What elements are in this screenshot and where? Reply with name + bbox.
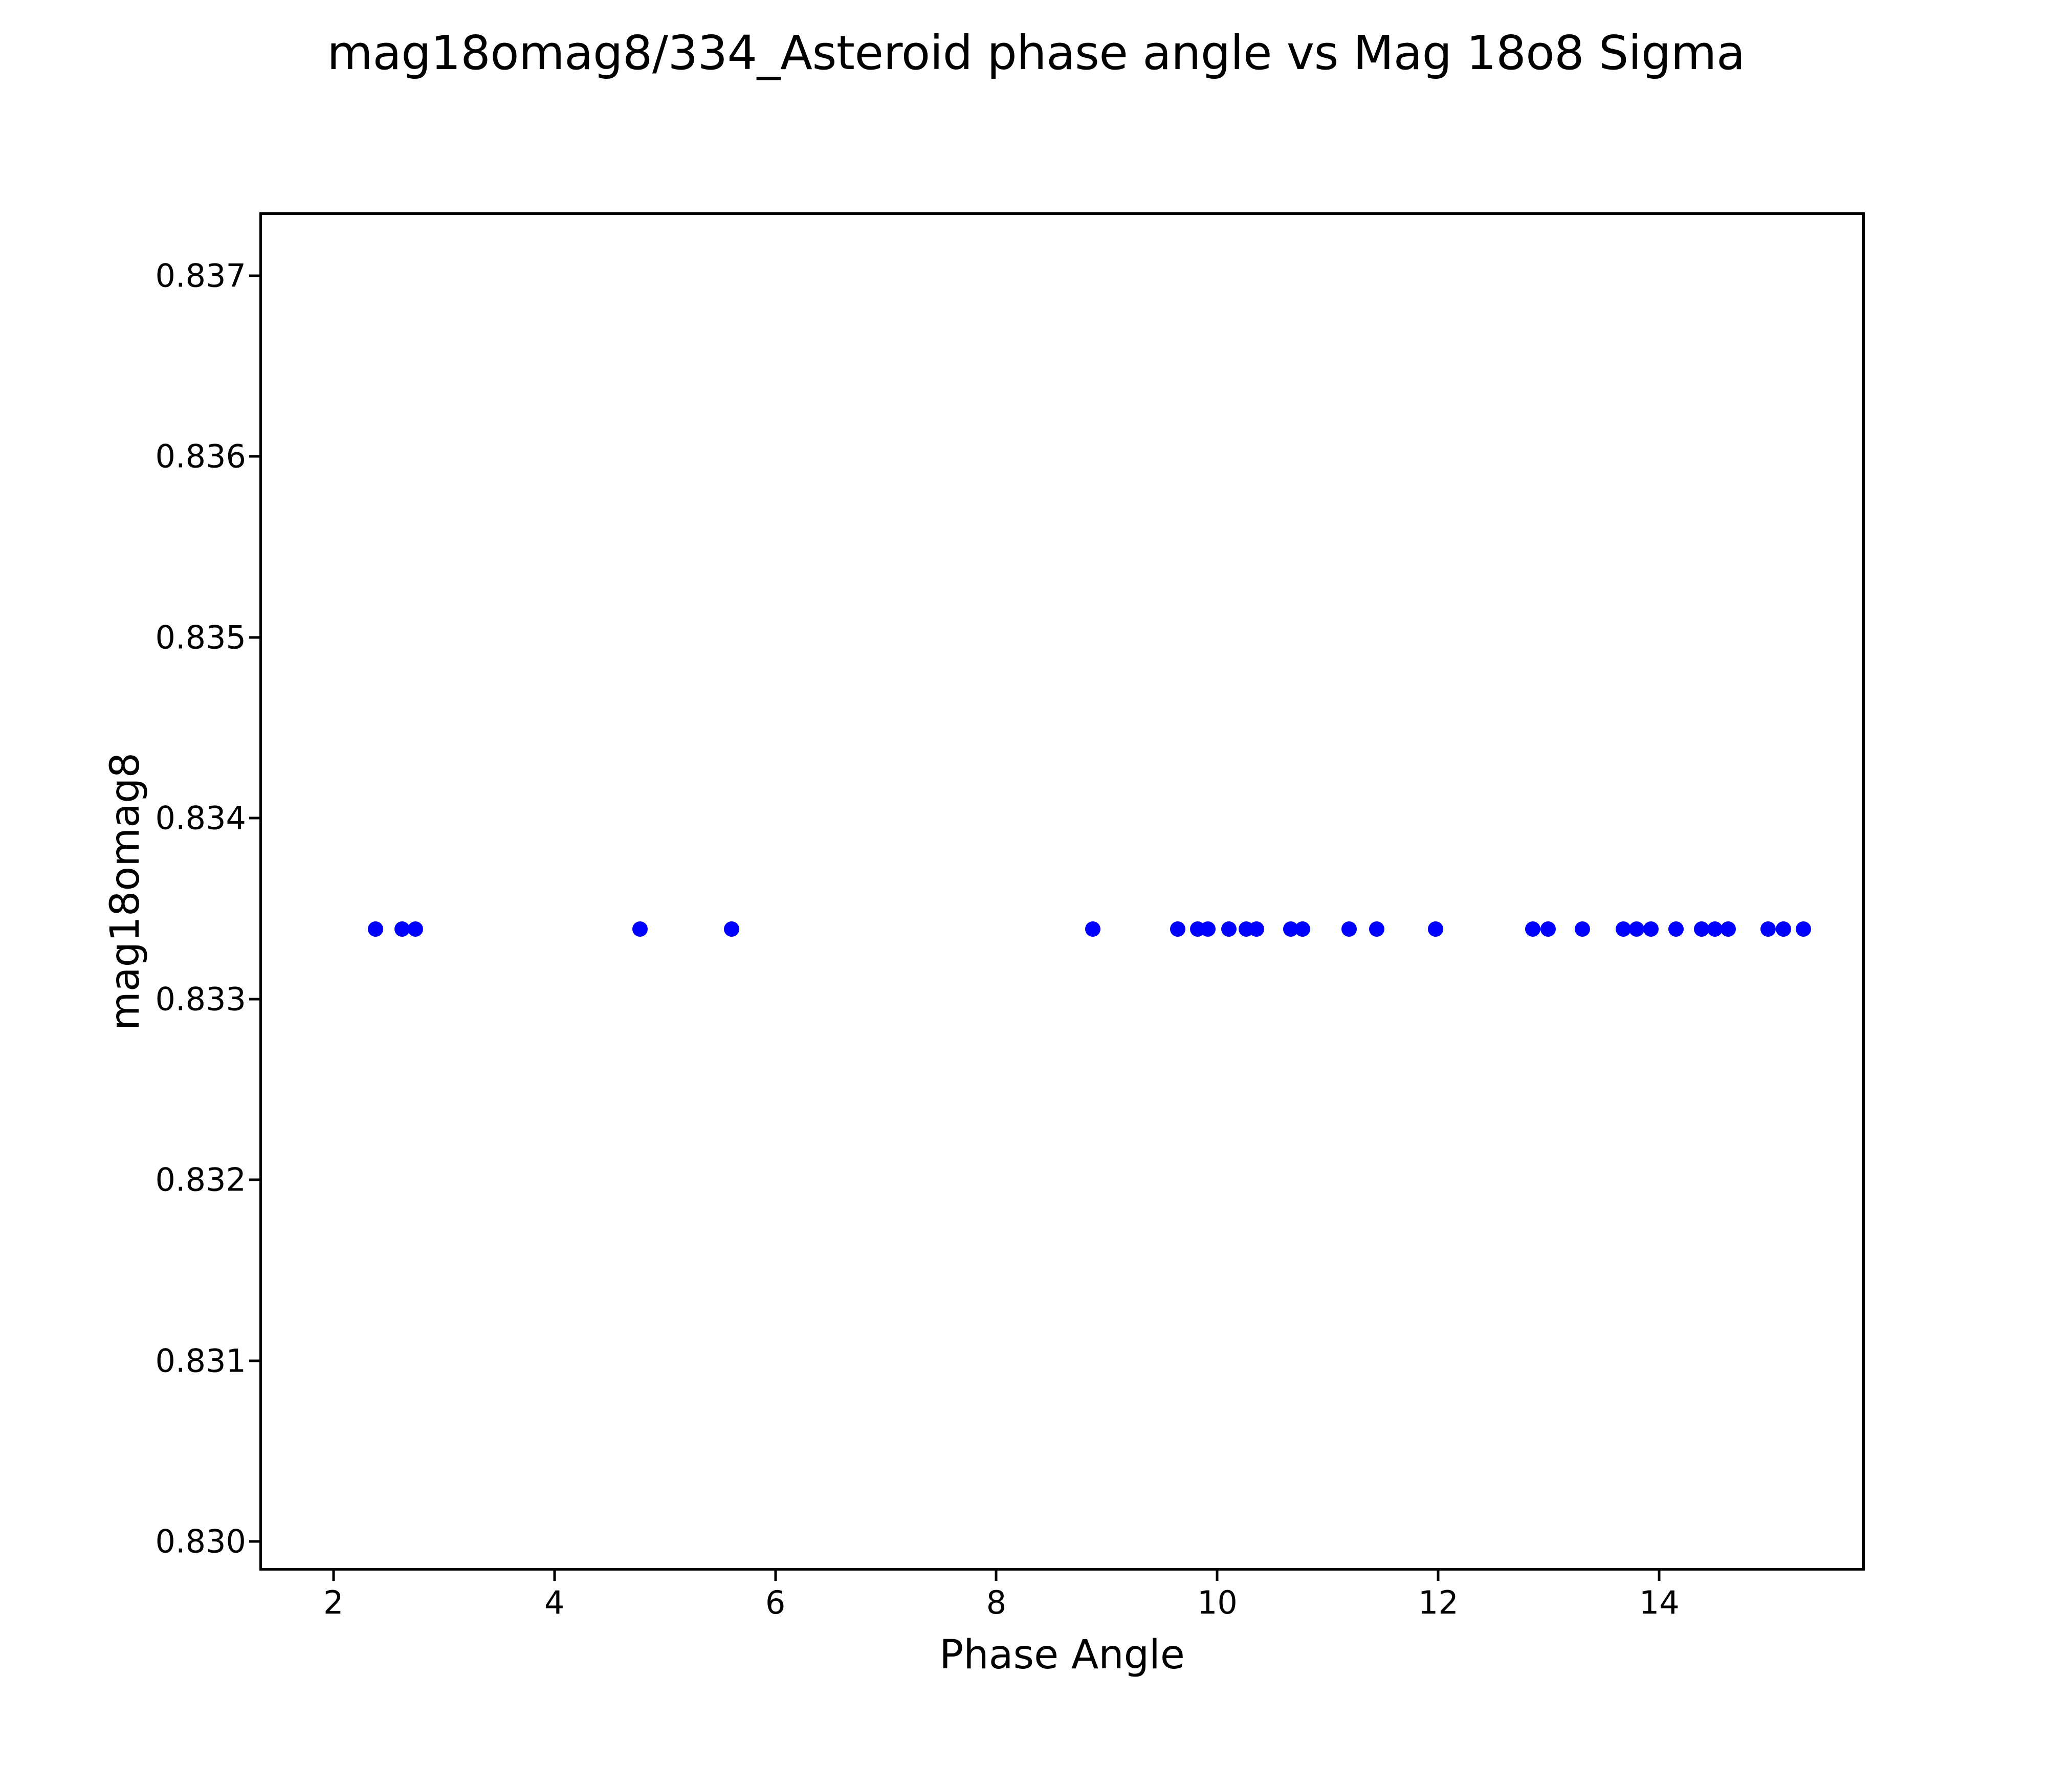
- x-axis-ticks: 2468101214: [259, 1571, 1865, 1642]
- scatter-point: [1643, 921, 1659, 937]
- x-axis-tick-mark: [1658, 1571, 1661, 1581]
- scatter-point: [1295, 921, 1310, 937]
- scatter-point: [1200, 921, 1216, 937]
- scatter-point: [1428, 921, 1443, 937]
- scatter-point: [1085, 921, 1100, 937]
- y-axis-tick-mark: [249, 455, 259, 458]
- x-axis-tick-label: 12: [1418, 1584, 1459, 1621]
- x-axis-tick-mark: [995, 1571, 998, 1581]
- x-axis-label: Phase Angle: [259, 1632, 1865, 1678]
- scatter-point: [1341, 921, 1357, 937]
- x-axis-tick-mark: [332, 1571, 335, 1581]
- y-axis-tick-mark: [249, 817, 259, 820]
- y-axis-tick-mark: [249, 274, 259, 277]
- y-axis-tick-mark: [249, 1179, 259, 1181]
- x-axis-tick-label: 10: [1197, 1584, 1238, 1621]
- scatter-point: [1760, 921, 1776, 937]
- y-axis-tick-mark: [249, 998, 259, 1000]
- x-axis-tick-label: 4: [544, 1584, 564, 1621]
- scatter-point: [408, 921, 423, 937]
- scatter-point: [1575, 921, 1590, 937]
- scatter-point: [1629, 921, 1644, 937]
- x-axis-tick-label: 2: [323, 1584, 343, 1621]
- x-axis-tick-mark: [553, 1571, 556, 1581]
- scatter-point: [1796, 921, 1811, 937]
- y-axis-tick-mark: [249, 1359, 259, 1362]
- scatter-point: [1540, 921, 1556, 937]
- x-axis-tick-label: 6: [765, 1584, 785, 1621]
- y-axis-label: mag18omag8: [90, 212, 161, 1571]
- scatter-point: [1776, 921, 1791, 937]
- chart-canvas: mag18omag8/334_Asteroid phase angle vs M…: [0, 0, 2072, 1765]
- page-title: mag18omag8/334_Asteroid phase angle vs M…: [0, 26, 2072, 80]
- x-axis-tick-label: 14: [1639, 1584, 1680, 1621]
- plot-area: [259, 212, 1865, 1571]
- scatter-point: [1525, 921, 1540, 937]
- y-axis-tick-mark: [249, 636, 259, 638]
- scatter-point: [724, 921, 739, 937]
- scatter-point: [368, 921, 383, 937]
- scatter-point: [632, 921, 648, 937]
- x-axis-tick-label: 8: [986, 1584, 1006, 1621]
- y-axis-tick-mark: [249, 1540, 259, 1543]
- scatter-point: [1721, 921, 1736, 937]
- scatter-point: [1668, 921, 1684, 937]
- x-axis-tick-mark: [774, 1571, 777, 1581]
- scatter-point: [1221, 921, 1237, 937]
- x-axis-tick-mark: [1437, 1571, 1440, 1581]
- scatter-point: [1170, 921, 1185, 937]
- scatter-point: [1249, 921, 1264, 937]
- scatter-point: [1369, 921, 1384, 937]
- x-axis-tick-mark: [1216, 1571, 1219, 1581]
